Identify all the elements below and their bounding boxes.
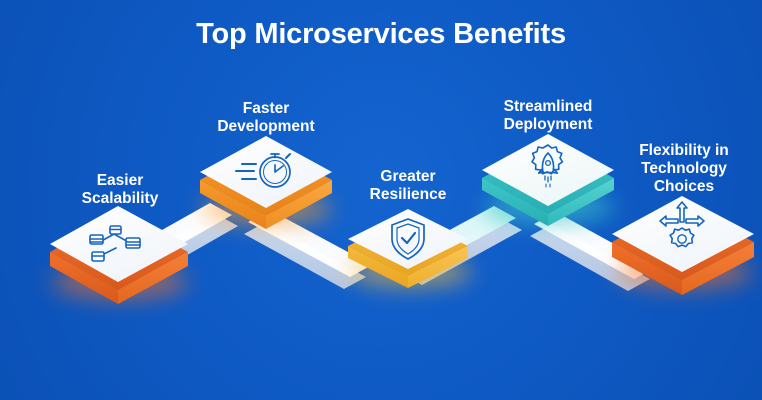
- isometric-tile-flexibility-in-technology-choices[interactable]: [604, 142, 762, 302]
- isometric-tile-easier-scalability[interactable]: [40, 172, 200, 312]
- isometric-tile-faster-development[interactable]: [186, 100, 346, 240]
- benefit-node-greater-resilience[interactable]: Greater Resilience: [328, 168, 488, 308]
- isometric-tile-greater-resilience[interactable]: [328, 168, 488, 308]
- infographic-canvas: Top Microservices Benefits: [0, 0, 762, 400]
- benefit-node-faster-development[interactable]: Faster Development: [186, 100, 346, 240]
- benefit-node-easier-scalability[interactable]: Easier Scalability: [40, 172, 200, 312]
- benefit-node-flexibility-in-technology-choices[interactable]: Flexibility in Technology Choices: [604, 142, 762, 302]
